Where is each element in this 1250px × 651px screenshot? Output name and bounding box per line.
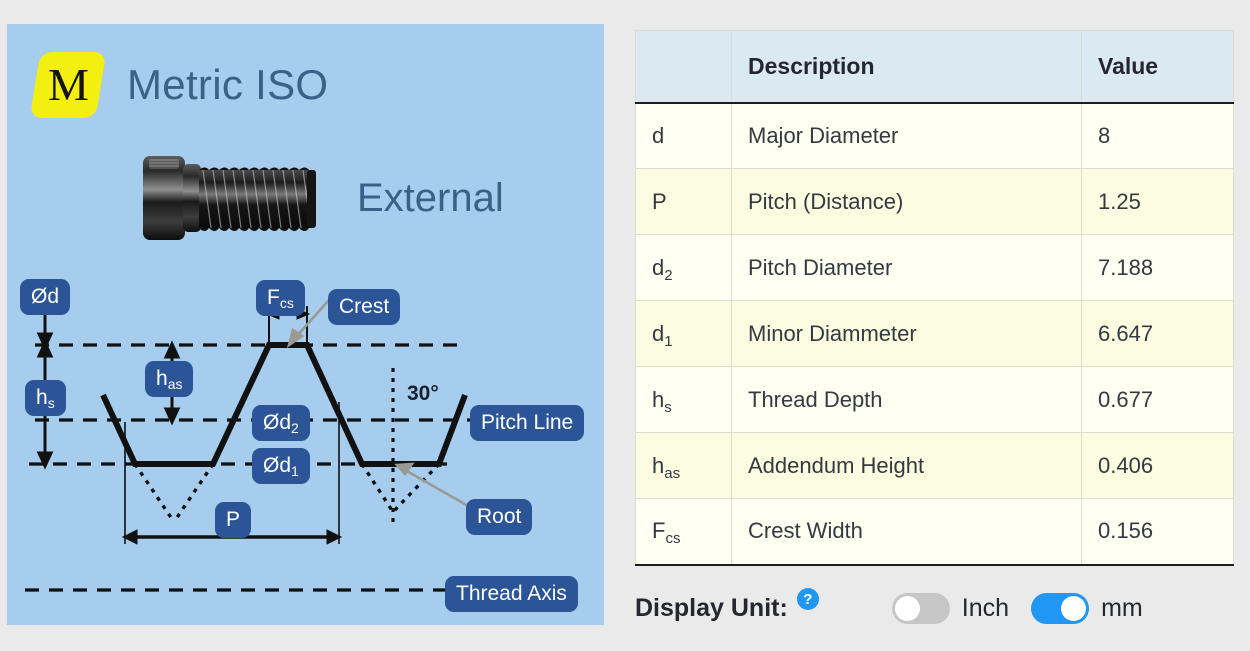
table-row: hasAddendum Height0.406 (636, 433, 1234, 499)
thread-type-label: External (357, 176, 504, 221)
callout-pitch: P (215, 502, 251, 538)
callout-pitch-diameter: Ød2 (252, 405, 310, 441)
table-row: hsThread Depth0.677 (636, 367, 1234, 433)
cell-description: Minor Diammeter (732, 301, 1082, 367)
cell-symbol: d1 (636, 301, 732, 367)
root-v-left-1 (135, 464, 174, 522)
table-row: dMajor Diameter8 (636, 103, 1234, 169)
help-icon[interactable]: ? (797, 588, 819, 610)
metric-badge-letter: M (48, 62, 89, 108)
column-header-description: Description (732, 31, 1082, 103)
callout-crest-width: Fcs (256, 280, 305, 316)
display-unit-control: Display Unit: ? Inch mm (635, 586, 1143, 630)
display-unit-label: Display Unit: (635, 594, 788, 623)
screw-illustration-row: External (139, 152, 504, 244)
cell-value: 0.156 (1082, 499, 1234, 565)
mm-unit-toggle[interactable] (1031, 593, 1089, 624)
callout-crest: Crest (328, 289, 400, 325)
cell-value: 6.647 (1082, 301, 1234, 367)
cell-symbol: has (636, 433, 732, 499)
flank-angle-label: 30° (407, 382, 439, 406)
cell-symbol: P (636, 169, 732, 235)
table-row: d1Minor Diammeter6.647 (636, 301, 1234, 367)
root-leader-line (405, 470, 470, 507)
column-header-symbol (636, 31, 732, 103)
callout-addendum-height: has (145, 361, 193, 397)
mm-toggle-knob (1061, 596, 1086, 621)
callout-minor-diameter: Ød1 (252, 448, 310, 484)
cell-value: 7.188 (1082, 235, 1234, 301)
cell-description: Pitch Diameter (732, 235, 1082, 301)
cell-symbol: d2 (636, 235, 732, 301)
callout-root: Root (466, 499, 532, 535)
table-row: d2Pitch Diameter7.188 (636, 235, 1234, 301)
root-v-right-2 (393, 464, 439, 512)
root-v-left-2 (174, 464, 213, 522)
cell-symbol: d (636, 103, 732, 169)
standard-title: Metric ISO (127, 61, 328, 109)
cell-description: Pitch (Distance) (732, 169, 1082, 235)
cell-value: 1.25 (1082, 169, 1234, 235)
table-row: FcsCrest Width0.156 (636, 499, 1234, 565)
cell-value: 8 (1082, 103, 1234, 169)
standard-header: M Metric ISO (35, 52, 328, 118)
cell-symbol: Fcs (636, 499, 732, 565)
column-header-value: Value (1082, 31, 1234, 103)
cell-description: Crest Width (732, 499, 1082, 565)
cell-description: Major Diameter (732, 103, 1082, 169)
inch-toggle-knob (895, 596, 920, 621)
cell-value: 0.406 (1082, 433, 1234, 499)
cell-description: Thread Depth (732, 367, 1082, 433)
callout-thread-depth: hs (25, 380, 66, 416)
callout-major-diameter: Ød (20, 279, 70, 315)
cell-value: 0.677 (1082, 367, 1234, 433)
cell-symbol: hs (636, 367, 732, 433)
root-v-right-1 (362, 464, 393, 512)
hex-socket-screw-icon (139, 152, 339, 244)
inch-unit-toggle[interactable] (892, 593, 950, 624)
table-header-row: Description Value (636, 31, 1234, 103)
cell-description: Addendum Height (732, 433, 1082, 499)
table-row: PPitch (Distance)1.25 (636, 169, 1234, 235)
mm-unit-label: mm (1101, 594, 1143, 623)
callout-thread-axis: Thread Axis (445, 576, 578, 612)
callout-pitch-line: Pitch Line (470, 405, 584, 441)
inch-unit-label: Inch (962, 594, 1009, 623)
thread-spec-table: Description Value dMajor Diameter8PPitch… (635, 30, 1234, 566)
metric-badge-icon: M (30, 52, 106, 118)
thread-diagram-panel: M Metric ISO (7, 24, 604, 625)
